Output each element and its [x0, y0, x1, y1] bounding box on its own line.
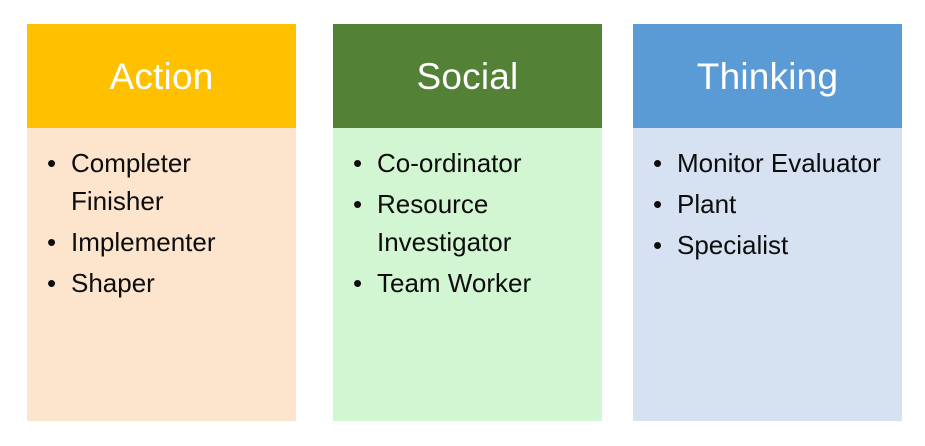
column-body-thinking: • Monitor Evaluator • Plant • Specialist: [633, 128, 902, 421]
bullet-icon: •: [353, 185, 367, 223]
list-item: • Co-ordinator: [345, 144, 590, 182]
bullet-icon: •: [47, 264, 61, 302]
column-body-action: • Completer Finisher • Implementer • Sha…: [27, 128, 296, 421]
role-list-action: • Completer Finisher • Implementer • Sha…: [39, 144, 284, 302]
role-label: Shaper: [71, 268, 155, 298]
list-item: • Monitor Evaluator: [645, 144, 890, 182]
column-title-action: Action: [109, 58, 213, 95]
list-item: • Completer Finisher: [39, 144, 284, 220]
column-header-thinking: Thinking: [633, 24, 902, 128]
role-label: Completer Finisher: [71, 148, 191, 216]
role-label: Resource Investigator: [377, 189, 511, 257]
bullet-icon: •: [353, 264, 367, 302]
role-list-social: • Co-ordinator • Resource Investigator •…: [345, 144, 590, 302]
bullet-icon: •: [653, 185, 667, 223]
role-label: Specialist: [677, 230, 788, 260]
category-column-action: Action • Completer Finisher • Implemente…: [27, 24, 296, 421]
list-item: • Specialist: [645, 226, 890, 264]
role-label: Monitor Evaluator: [677, 148, 881, 178]
column-body-social: • Co-ordinator • Resource Investigator •…: [333, 128, 602, 421]
bullet-icon: •: [353, 144, 367, 182]
bullet-icon: •: [653, 226, 667, 264]
list-item: • Resource Investigator: [345, 185, 590, 261]
list-item: • Implementer: [39, 223, 284, 261]
role-label: Team Worker: [377, 268, 531, 298]
belbin-team-roles-diagram: Action • Completer Finisher • Implemente…: [0, 0, 925, 446]
column-header-social: Social: [333, 24, 602, 128]
list-item: • Shaper: [39, 264, 284, 302]
role-label: Plant: [677, 189, 736, 219]
column-header-action: Action: [27, 24, 296, 128]
bullet-icon: •: [47, 144, 61, 182]
column-title-thinking: Thinking: [697, 58, 838, 95]
column-title-social: Social: [417, 58, 519, 95]
role-label: Co-ordinator: [377, 148, 522, 178]
bullet-icon: •: [653, 144, 667, 182]
bullet-icon: •: [47, 223, 61, 261]
role-label: Implementer: [71, 227, 216, 257]
list-item: • Plant: [645, 185, 890, 223]
category-column-social: Social • Co-ordinator • Resource Investi…: [333, 24, 602, 421]
role-list-thinking: • Monitor Evaluator • Plant • Specialist: [645, 144, 890, 264]
list-item: • Team Worker: [345, 264, 590, 302]
category-column-thinking: Thinking • Monitor Evaluator • Plant • S…: [633, 24, 902, 421]
